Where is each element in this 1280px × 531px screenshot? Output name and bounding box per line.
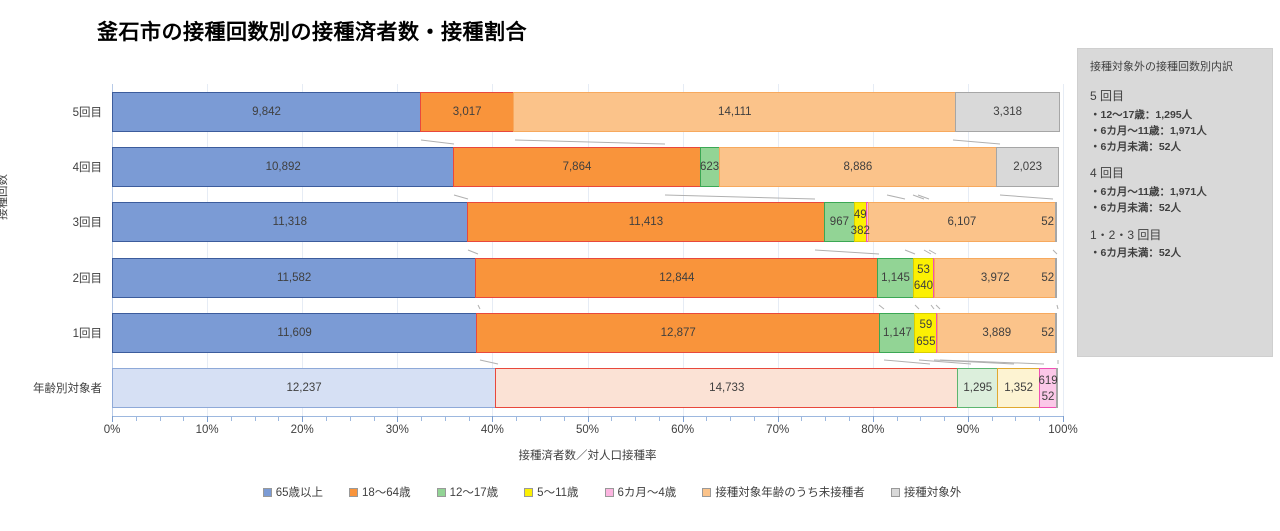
- bar-segment: 6,107: [868, 202, 1056, 242]
- bar-segment: 12,877: [476, 313, 880, 353]
- bar-segment: 52: [1055, 313, 1057, 353]
- gridline: [302, 84, 303, 416]
- bar-value-label: 7,864: [563, 161, 592, 173]
- x-axis-tick-label: 100%: [1048, 424, 1077, 436]
- bar-value-label: 3,318: [993, 106, 1022, 118]
- bar-value-label: 14,111: [718, 106, 751, 118]
- legend-swatch-icon: [349, 488, 358, 497]
- side-note-line: ・6カ月〜11歳：1,971人: [1090, 123, 1260, 139]
- x-axis-tick: [278, 416, 279, 421]
- legend-label: 接種対象外: [904, 484, 962, 500]
- bar-segment: 14,733: [495, 368, 958, 408]
- legend: 65歳以上18〜64歳12〜17歳5〜11歳6カ月〜4歳接種対象年齢のうち未接種…: [112, 484, 1112, 500]
- bar-value-label: 53: [917, 264, 930, 276]
- x-axis-tick: [255, 416, 256, 421]
- bar-segment: 3,972: [934, 258, 1056, 298]
- x-axis-tick-label: 60%: [671, 424, 694, 436]
- x-axis-tick: [421, 416, 422, 421]
- x-axis-tick: [588, 416, 589, 422]
- bar-segment: 1,295: [957, 368, 998, 408]
- x-axis-tick: [1015, 416, 1016, 421]
- bar-value-label: 11,318: [273, 216, 307, 228]
- plot-area: 9,8423,01714,1113,31810,8927,8646238,886…: [112, 84, 1063, 416]
- gridline: [207, 84, 208, 416]
- bar-value-label: 11,609: [277, 327, 311, 339]
- x-axis-tick: [469, 416, 470, 421]
- x-axis-tick: [112, 416, 113, 422]
- bar-segment: 11,413: [467, 202, 826, 242]
- x-axis-tick: [730, 416, 731, 421]
- x-axis-tick: [801, 416, 802, 421]
- y-axis-tick-labels: 5回目4回目3回目2回目1回目年齢別対象者: [0, 84, 108, 416]
- bar-value-label: 9,842: [252, 106, 281, 118]
- x-axis-tick: [778, 416, 779, 422]
- x-axis-ticks: [112, 416, 1063, 422]
- x-axis-tick: [136, 416, 137, 421]
- x-axis-tick: [944, 416, 945, 421]
- x-axis-tick: [968, 416, 969, 422]
- bar-segment: 1,145: [877, 258, 913, 298]
- bar-row: 11,60912,8771,147596553,88952: [112, 313, 1063, 353]
- x-axis-tick-label: 30%: [386, 424, 409, 436]
- legend-label: 12〜17歳: [450, 484, 499, 500]
- x-axis-tick: [160, 416, 161, 421]
- legend-swatch-icon: [437, 488, 446, 497]
- y-axis-tick-label: 1回目: [73, 325, 102, 341]
- bar-row: 11,31811,413967493826,10752: [112, 202, 1063, 242]
- page-title: 釜石市の接種回数別の接種済者数・接種割合: [97, 16, 527, 46]
- bar-segment: 59655: [914, 313, 937, 353]
- legend-swatch-icon: [524, 488, 533, 497]
- bar-segment: 1,352: [997, 368, 1040, 408]
- bar-value-label: 52: [1041, 327, 1054, 339]
- x-axis-tick-label: 70%: [766, 424, 789, 436]
- x-axis-tick: [516, 416, 517, 421]
- bar-value-label: 2,023: [1013, 161, 1042, 173]
- bar-segment: 11,582: [112, 258, 476, 298]
- gridline: [112, 84, 113, 416]
- side-note-group-title: 5 回目: [1090, 87, 1260, 106]
- x-axis-tick-labels: 0%10%20%30%40%50%60%70%80%90%100%: [112, 424, 1063, 442]
- side-note-group-title: 4 回目: [1090, 164, 1260, 183]
- x-axis-tick: [540, 416, 541, 421]
- x-axis-tick: [350, 416, 351, 421]
- legend-label: 5〜11歳: [537, 484, 578, 500]
- bar-segment: 49382: [854, 202, 867, 242]
- x-axis-tick: [992, 416, 993, 421]
- bar-segment: 9,842: [112, 92, 421, 132]
- bar-value-label-secondary: 640: [914, 280, 933, 292]
- bar-value-label: 12,877: [661, 327, 696, 339]
- bar-value-label: 967: [830, 216, 849, 228]
- bar-value-label-secondary: 655: [916, 336, 935, 348]
- side-note-heading: 接種対象外の接種回数別内訳: [1090, 59, 1260, 76]
- side-note-group-title: 1・2・3 回目: [1090, 226, 1260, 245]
- legend-swatch-icon: [891, 488, 900, 497]
- bar-row: 10,8927,8646238,8862,023: [112, 147, 1063, 187]
- bar-value-label: 1,295: [963, 382, 992, 394]
- x-axis-title: 接種済者数／対人口接種率: [112, 447, 1063, 463]
- bar-value-label: 619: [1038, 375, 1057, 387]
- bar-value-label-secondary: 382: [851, 225, 870, 237]
- bar-value-label: 1,352: [1004, 382, 1033, 394]
- bar-value-label: 1,145: [881, 272, 910, 284]
- gridline: [1063, 84, 1064, 416]
- bar-segment: 53640: [913, 258, 935, 298]
- x-axis-tick: [873, 416, 874, 422]
- x-axis-tick: [374, 416, 375, 421]
- x-axis-tick-label: 0%: [104, 424, 121, 436]
- x-axis-tick: [326, 416, 327, 421]
- bar-segment: 3,318: [955, 92, 1060, 132]
- gridline: [683, 84, 684, 416]
- bar-value-label: 52: [1041, 272, 1054, 284]
- y-axis-tick-label: 5回目: [73, 104, 102, 120]
- x-axis-tick: [611, 416, 612, 421]
- legend-item[interactable]: 接種対象外: [891, 484, 962, 500]
- x-axis-tick: [231, 416, 232, 421]
- legend-label: 6カ月〜4歳: [618, 484, 677, 500]
- legend-swatch-icon: [702, 488, 711, 497]
- x-axis-tick: [849, 416, 850, 421]
- bar-segment: 14,111: [513, 92, 956, 132]
- x-axis-tick: [754, 416, 755, 421]
- gridline: [397, 84, 398, 416]
- x-axis-tick-label: 40%: [481, 424, 504, 436]
- bar-segment: 11,318: [112, 202, 468, 242]
- side-note-line: ・6カ月未満：52人: [1090, 245, 1260, 261]
- side-note-line: ・6カ月未満：52人: [1090, 200, 1260, 216]
- gridline: [492, 84, 493, 416]
- bar-value-label: 8,886: [844, 161, 873, 173]
- side-note-line: ・6カ月未満：52人: [1090, 139, 1260, 155]
- gridline: [968, 84, 969, 416]
- x-axis-tick: [825, 416, 826, 421]
- x-axis-tick-label: 50%: [576, 424, 599, 436]
- bar-segment: 1,147: [879, 313, 915, 353]
- x-axis-tick: [564, 416, 565, 421]
- x-axis-tick: [183, 416, 184, 421]
- bar-value-label: 10,892: [266, 161, 301, 173]
- bar-segment: 7,864: [453, 147, 700, 187]
- bar-segment: 52: [1055, 258, 1057, 298]
- bar-row: 9,8423,01714,1113,318: [112, 92, 1063, 132]
- bar-value-label: 1,147: [883, 327, 912, 339]
- legend-item[interactable]: 12〜17歳: [437, 484, 499, 500]
- bar-segment: 3,017: [420, 92, 514, 132]
- legend-label: 18〜64歳: [362, 484, 411, 500]
- bar-value-label: 12,844: [659, 272, 694, 284]
- bar-segment: 10,892: [112, 147, 454, 187]
- bar-segment: 11,609: [112, 313, 477, 353]
- bar-segment: 8,886: [719, 147, 998, 187]
- bar-row: 11,58212,8441,145536403,97252: [112, 258, 1063, 298]
- bar-value-label: 623: [700, 161, 719, 173]
- side-note-group: 1・2・3 回目・6カ月未満：52人: [1090, 226, 1260, 262]
- bar-value-label: 52: [1041, 216, 1054, 228]
- legend-label: 接種対象年齢のうち未接種者: [715, 484, 865, 500]
- legend-swatch-icon: [605, 488, 614, 497]
- y-axis-tick-label: 3回目: [73, 214, 102, 230]
- gridline: [873, 84, 874, 416]
- bar-value-label: 3,017: [453, 106, 482, 118]
- x-axis-tick: [302, 416, 303, 422]
- bar-value-label: 6,107: [948, 216, 977, 228]
- legend-item[interactable]: 5〜11歳: [524, 484, 578, 500]
- side-note-groups: 5 回目・12〜17歳：1,295人・6カ月〜11歳：1,971人・6カ月未満：…: [1090, 87, 1260, 261]
- side-note-group: 5 回目・12〜17歳：1,295人・6カ月〜11歳：1,971人・6カ月未満：…: [1090, 87, 1260, 155]
- x-axis-tick: [706, 416, 707, 421]
- legend-item[interactable]: 65歳以上: [263, 484, 323, 500]
- y-axis-tick-label: 年齢別対象者: [33, 380, 102, 396]
- legend-item[interactable]: 6カ月〜4歳: [605, 484, 677, 500]
- bar-value-label-secondary: 52: [1042, 391, 1055, 403]
- legend-item[interactable]: 接種対象年齢のうち未接種者: [702, 484, 865, 500]
- gridlines: [112, 84, 1063, 416]
- gridline: [778, 84, 779, 416]
- x-axis-tick-label: 80%: [861, 424, 884, 436]
- x-axis-tick-label: 90%: [956, 424, 979, 436]
- gridline: [588, 84, 589, 416]
- x-axis-tick: [207, 416, 208, 422]
- bar-value-label: 11,582: [277, 272, 311, 284]
- x-axis-tick-label: 20%: [291, 424, 314, 436]
- y-axis-tick-label: 4回目: [73, 159, 102, 175]
- bar-value-label: 3,889: [982, 327, 1011, 339]
- bar-segment: 61952: [1039, 368, 1057, 408]
- x-axis-tick: [492, 416, 493, 422]
- legend-swatch-icon: [263, 488, 272, 497]
- x-axis-tick: [897, 416, 898, 421]
- bar-value-label: 14,733: [709, 382, 744, 394]
- x-axis-tick: [1039, 416, 1040, 421]
- bar-segment: 12,844: [475, 258, 878, 298]
- side-note-panel: 接種対象外の接種回数別内訳 5 回目・12〜17歳：1,295人・6カ月〜11歳…: [1077, 48, 1273, 357]
- bar-segment: 3,889: [937, 313, 1056, 353]
- bar-segment: 12,237: [112, 368, 496, 408]
- bar-segment: 623: [700, 147, 720, 187]
- legend-label: 65歳以上: [276, 484, 323, 500]
- bar-value-label: 59: [919, 319, 932, 331]
- bar-segment: 52: [1055, 202, 1057, 242]
- x-axis-tick: [397, 416, 398, 422]
- bar-value-label: 12,237: [287, 382, 322, 394]
- bar-value-label: 11,413: [629, 216, 663, 228]
- x-axis-tick: [635, 416, 636, 421]
- side-note-line: ・6カ月〜11歳：1,971人: [1090, 184, 1260, 200]
- x-axis-tick: [659, 416, 660, 421]
- y-axis-tick-label: 2回目: [73, 270, 102, 286]
- x-axis-tick: [920, 416, 921, 421]
- x-axis-tick: [1063, 416, 1064, 422]
- bar-value-label: 3,972: [981, 272, 1010, 284]
- x-axis-tick-label: 10%: [196, 424, 219, 436]
- bar-value-label: 49: [854, 209, 867, 221]
- bar-row: 12,23714,7331,2951,35261952: [112, 368, 1063, 408]
- x-axis-tick: [683, 416, 684, 422]
- side-note-line: ・12〜17歳：1,295人: [1090, 107, 1260, 123]
- side-note-group: 4 回目・6カ月〜11歳：1,971人・6カ月未満：52人: [1090, 164, 1260, 216]
- bar-segment: 2,023: [996, 147, 1059, 187]
- legend-item[interactable]: 18〜64歳: [349, 484, 411, 500]
- x-axis-tick: [445, 416, 446, 421]
